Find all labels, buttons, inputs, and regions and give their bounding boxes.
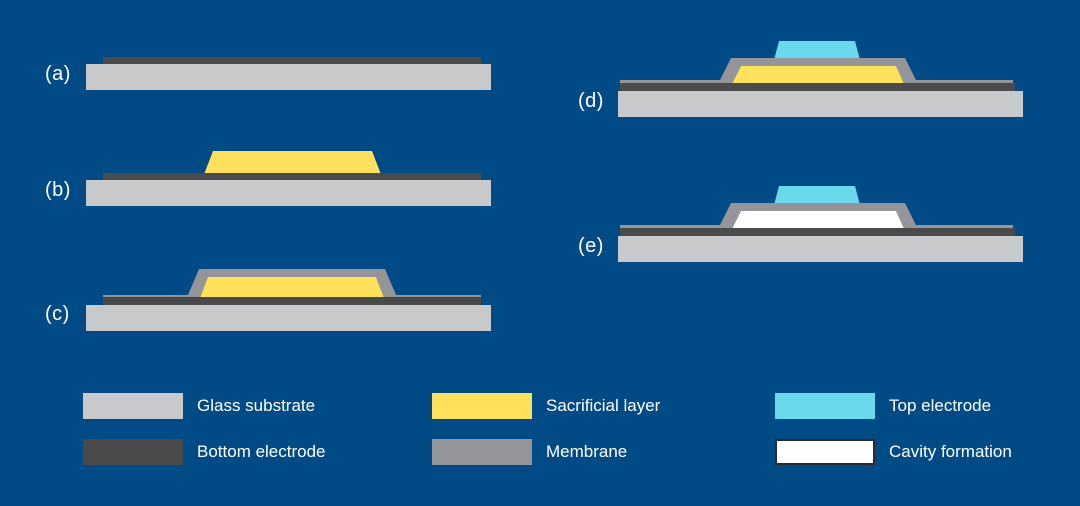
panel-label-b: (b) — [45, 179, 71, 202]
legend-swatch-cavity-formation — [775, 439, 875, 465]
panel-label-e: (e) — [578, 235, 604, 258]
legend-swatch-membrane — [432, 439, 532, 465]
panel-b-glass-substrate — [86, 180, 491, 206]
legend-label-glass-substrate: Glass substrate — [197, 396, 315, 416]
legend-swatch-glass-substrate — [83, 393, 183, 419]
legend-label-sacrificial-layer: Sacrificial layer — [546, 396, 660, 416]
legend-label-top-electrode: Top electrode — [889, 396, 991, 416]
legend: Glass substrate Bottom electrode Sacrifi… — [0, 380, 1080, 480]
legend-label-cavity-formation: Cavity formation — [889, 442, 1012, 462]
panel-b-graphic — [86, 151, 491, 206]
legend-label-bottom-electrode: Bottom electrode — [197, 442, 326, 462]
legend-item-top-electrode: Top electrode — [775, 393, 991, 419]
panel-d-top-electrode — [774, 41, 860, 60]
panel-a-graphic — [86, 57, 491, 90]
legend-item-cavity-formation: Cavity formation — [775, 439, 1012, 465]
panel-e-graphic — [618, 186, 1023, 262]
panel-c-graphic — [86, 269, 491, 331]
legend-swatch-top-electrode — [775, 393, 875, 419]
panel-label-d: (d) — [578, 90, 604, 113]
panel-label-a: (a) — [45, 63, 71, 86]
legend-swatch-bottom-electrode — [83, 439, 183, 465]
legend-item-bottom-electrode: Bottom electrode — [83, 439, 326, 465]
panel-c-glass-substrate — [86, 305, 491, 331]
panel-d-graphic — [618, 41, 1023, 117]
panel-label-c: (c) — [45, 303, 70, 326]
legend-item-sacrificial-layer: Sacrificial layer — [432, 393, 660, 419]
panel-e-glass-substrate — [618, 236, 1023, 262]
panel-d-glass-substrate — [618, 91, 1023, 117]
legend-swatch-sacrificial-layer — [432, 393, 532, 419]
legend-label-membrane: Membrane — [546, 442, 627, 462]
panel-a-glass-substrate — [86, 64, 491, 90]
legend-item-glass-substrate: Glass substrate — [83, 393, 315, 419]
panel-e-top-electrode — [774, 186, 860, 205]
legend-item-membrane: Membrane — [432, 439, 627, 465]
